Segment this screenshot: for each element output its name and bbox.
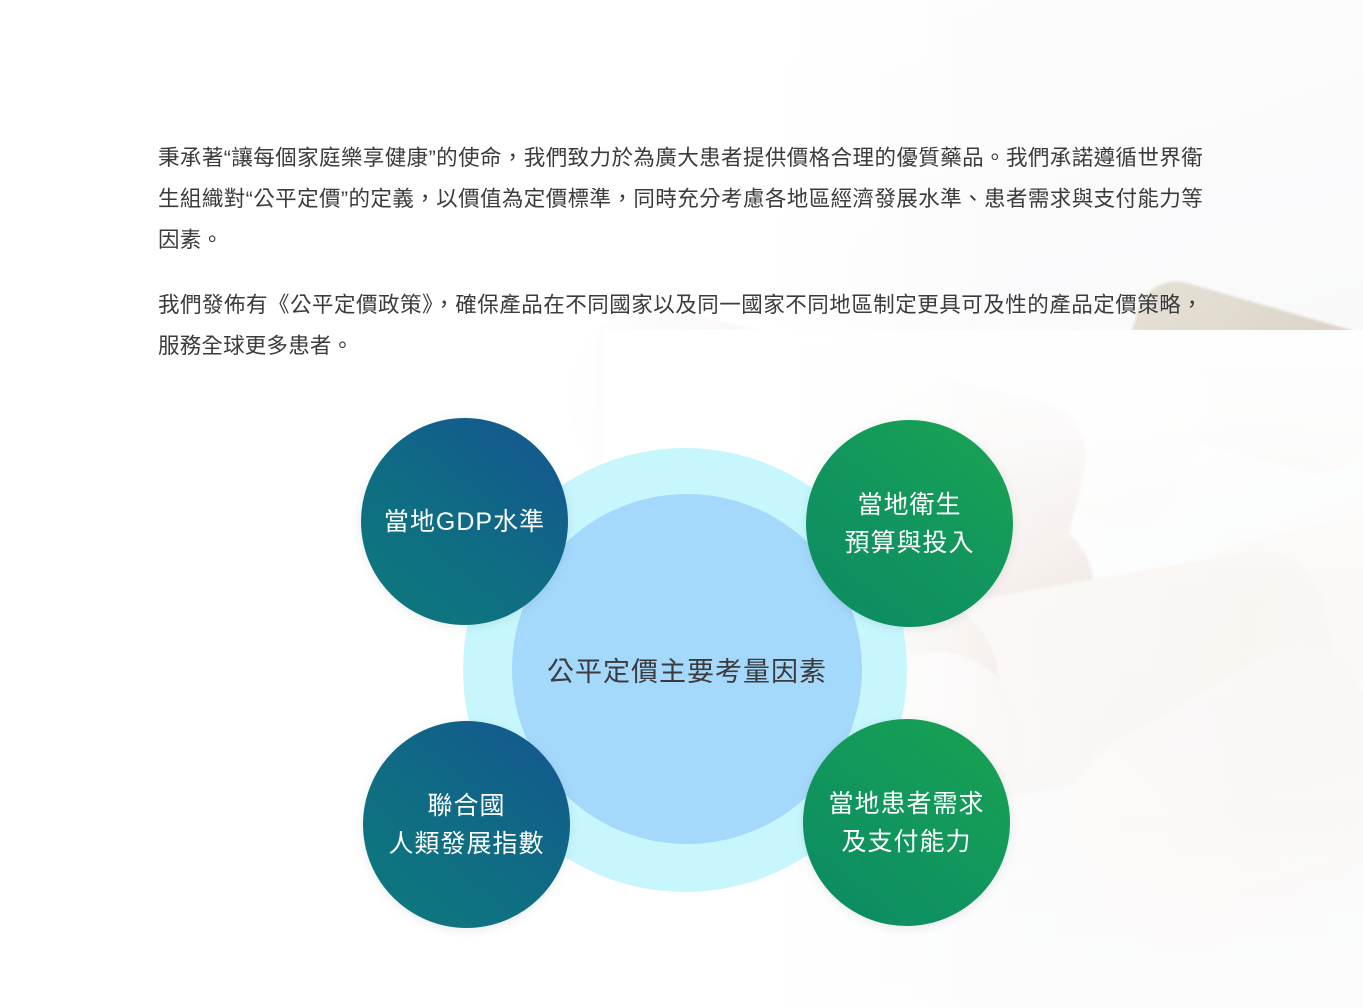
- node-label-line-2: 人類發展指數: [388, 825, 544, 863]
- node-label-line-2: 及支付能力: [841, 823, 971, 861]
- diagram-node-bottom-right[interactable]: 當地患者需求 及支付能力: [803, 719, 1010, 926]
- node-label-line-1: 聯合國: [427, 787, 505, 825]
- diagram-node-top-left[interactable]: 當地GDP水準: [361, 418, 568, 625]
- fair-pricing-diagram: 公平定價主要考量因素 當地GDP水準 當地衛生 預算與投入 聯合國 人類發展指數…: [0, 0, 1363, 1008]
- page-root: 秉承著“讓每個家庭樂享健康”的使命，我們致力於為廣大患者提供價格合理的優質藥品。…: [0, 0, 1363, 1008]
- node-label-line-1: 當地患者需求: [828, 785, 984, 823]
- diagram-node-top-right[interactable]: 當地衛生 預算與投入: [806, 420, 1013, 627]
- node-label-line-2: 預算與投入: [844, 524, 974, 562]
- node-label-line-1: 當地衛生: [857, 486, 961, 524]
- node-label-line-1: 當地GDP水準: [384, 503, 545, 541]
- diagram-node-bottom-left[interactable]: 聯合國 人類發展指數: [363, 721, 570, 928]
